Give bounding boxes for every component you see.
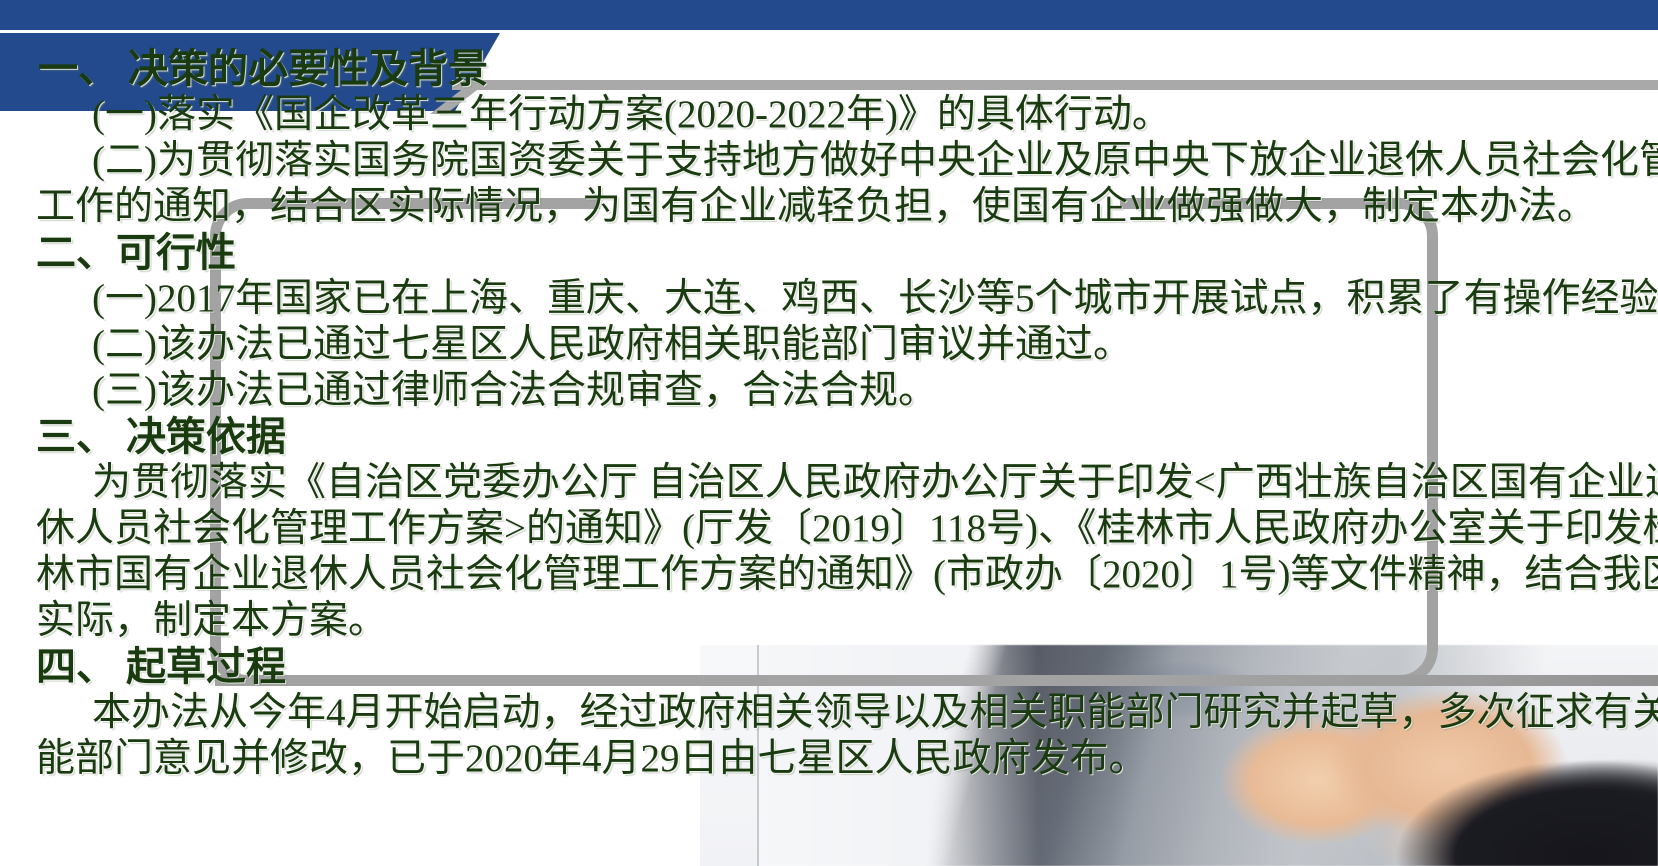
section-3-line-1: 为贯彻落实《自治区党委办公厅 自治区人民政府办公厅关于印发<广西壮族自治区国有企… [0, 460, 1658, 506]
section-4-line-1: 本办法从今年4月开始启动，经过政府相关领导以及相关职能部门研究并起草，多次征求有… [0, 690, 1658, 736]
slide-body: 一、 决策的必要性及背景 (一)落实《国企改革三年行动方案(2020-2022年… [0, 46, 1658, 782]
section-3-line-3: 林市国有企业退休人员社会化管理工作方案的通知》(市政办〔2020〕1号)等文件精… [0, 552, 1658, 598]
section-heading-3: 三、 决策依据 [0, 414, 1658, 460]
section-3-line-2: 休人员社会化管理工作方案>的通知》(厅发〔2019〕118号)、《桂林市人民政府… [0, 506, 1658, 552]
section-4-line-2: 能部门意见并修改，已于2020年4月29日由七星区人民政府发布。 [0, 736, 1658, 782]
section-2-line-1: (一)2017年国家已在上海、重庆、大连、鸡西、长沙等5个城市开展试点，积累了有… [0, 276, 1658, 322]
section-heading-1: 一、 决策的必要性及背景 [0, 46, 1658, 92]
section-3-line-4: 实际，制定本方案。 [0, 598, 1658, 644]
section-1-line-1: (一)落实《国企改革三年行动方案(2020-2022年)》的具体行动。 [0, 92, 1658, 138]
slide-canvas: 一、 决策的必要性及背景 (一)落实《国企改革三年行动方案(2020-2022年… [0, 0, 1658, 866]
section-2-line-3: (三)该办法已通过律师合法合规审查，合法合规。 [0, 368, 1658, 414]
header-blue-strip [0, 0, 1658, 30]
section-heading-4: 四、 起草过程 [0, 644, 1658, 690]
section-1-line-3: 工作的通知，结合区实际情况，为国有企业减轻负担，使国有企业做强做大，制定本办法。 [0, 184, 1658, 230]
section-heading-2: 二、可行性 [0, 230, 1658, 276]
section-2-line-2: (二)该办法已通过七星区人民政府相关职能部门审议并通过。 [0, 322, 1658, 368]
section-1-line-2: (二)为贯彻落实国务院国资委关于支持地方做好中央企业及原中央下放企业退休人员社会… [0, 138, 1658, 184]
header-white-divider [0, 30, 1658, 33]
